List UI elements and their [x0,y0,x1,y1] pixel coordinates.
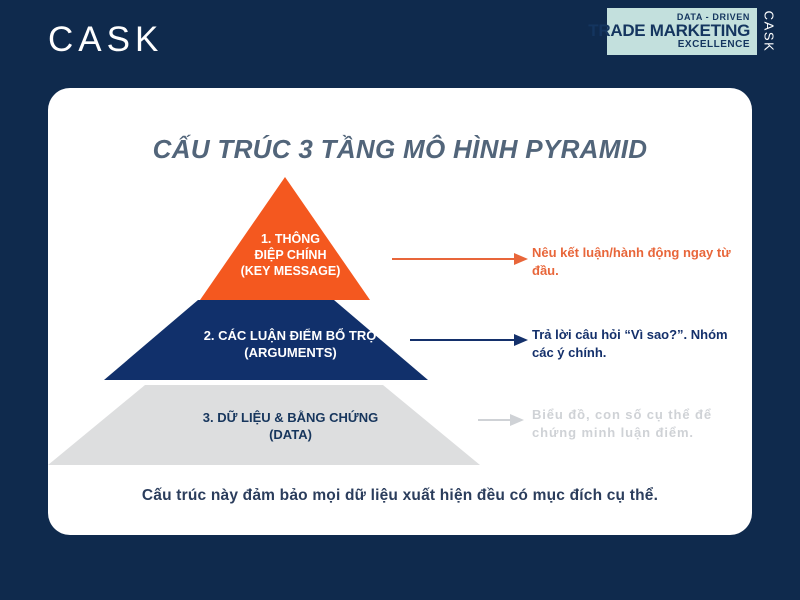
arrow-tier-3 [478,414,524,426]
pyramid-svg [48,88,752,535]
pyramid-diagram: 1. THÔNG ĐIỆP CHÍNH (KEY MESSAGE) 2. CÁC… [48,88,752,535]
badge-side-brand-label: CASK [757,8,781,55]
badge-tagline-bottom: EXCELLENCE [678,40,750,50]
card-footer-text: Cấu trúc này đảm bảo mọi dữ liệu xuất hi… [48,487,752,505]
trade-marketing-badge: DATA - DRIVEN TRADE MARKETING EXCELLENCE [607,8,757,55]
arrow-tier-1 [392,253,528,265]
content-card: CẤU TRÚC 3 TẦNG MÔ HÌNH PYRAMID [48,88,752,535]
annotation-tier-3: Biểu đồ, con số cụ thể để chứng minh luậ… [532,406,747,442]
arrow-tier-2 [410,334,528,346]
badge-title: TRADE MARKETING [588,22,750,40]
annotation-tier-1: Nêu kết luận/hành động ngay từ đầu. [532,244,742,280]
annotation-tier-2: Trả lời câu hỏi “Vì sao?”. Nhóm các ý ch… [532,326,742,362]
badge-side-brand-text: CASK [762,11,777,53]
pyramid-tier-2-shape[interactable] [104,300,428,380]
brand-logo: CASK [48,22,163,57]
pyramid-tier-3-shape[interactable] [48,385,480,465]
pyramid-tier-1-shape[interactable] [200,177,370,300]
